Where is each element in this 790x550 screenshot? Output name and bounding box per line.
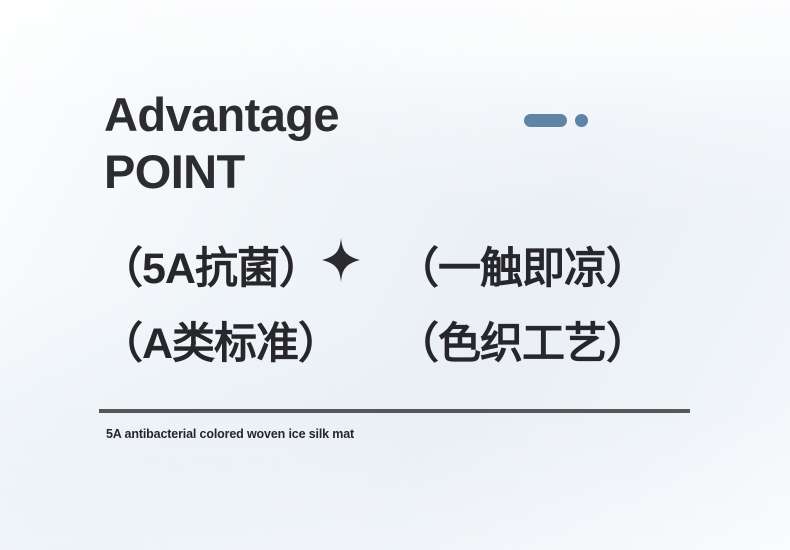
feature-instant-cool: （一触即凉）	[396, 234, 648, 304]
feature-row: （5A抗菌） （一触即凉）	[100, 234, 700, 309]
caption-text: 5A antibacterial colored woven ice silk …	[106, 427, 354, 441]
headline-block: Advantage POINT	[104, 86, 339, 200]
feature-row: （A类标准） （色织工艺）	[100, 309, 700, 384]
advantage-point-banner: Advantage POINT （5A抗菌） （一触即凉） （A类标准） （色织…	[0, 0, 790, 550]
dot-decoration-icon	[575, 114, 588, 127]
divider-rule	[99, 409, 690, 413]
headline-line-advantage: Advantage	[104, 86, 339, 143]
feature-yarn-dyed-process: （色织工艺）	[396, 309, 648, 379]
feature-antibacterial: （5A抗菌）	[100, 234, 321, 304]
banner-content: Advantage POINT （5A抗菌） （一触即凉） （A类标准） （色织…	[0, 0, 790, 550]
decoration-group	[524, 114, 590, 128]
dash-decoration-icon	[524, 114, 567, 127]
feature-grid: （5A抗菌） （一触即凉） （A类标准） （色织工艺）	[100, 234, 700, 384]
feature-class-a-standard: （A类标准）	[100, 309, 340, 379]
sparkle-icon	[322, 238, 360, 282]
headline-line-point: POINT	[104, 143, 339, 200]
